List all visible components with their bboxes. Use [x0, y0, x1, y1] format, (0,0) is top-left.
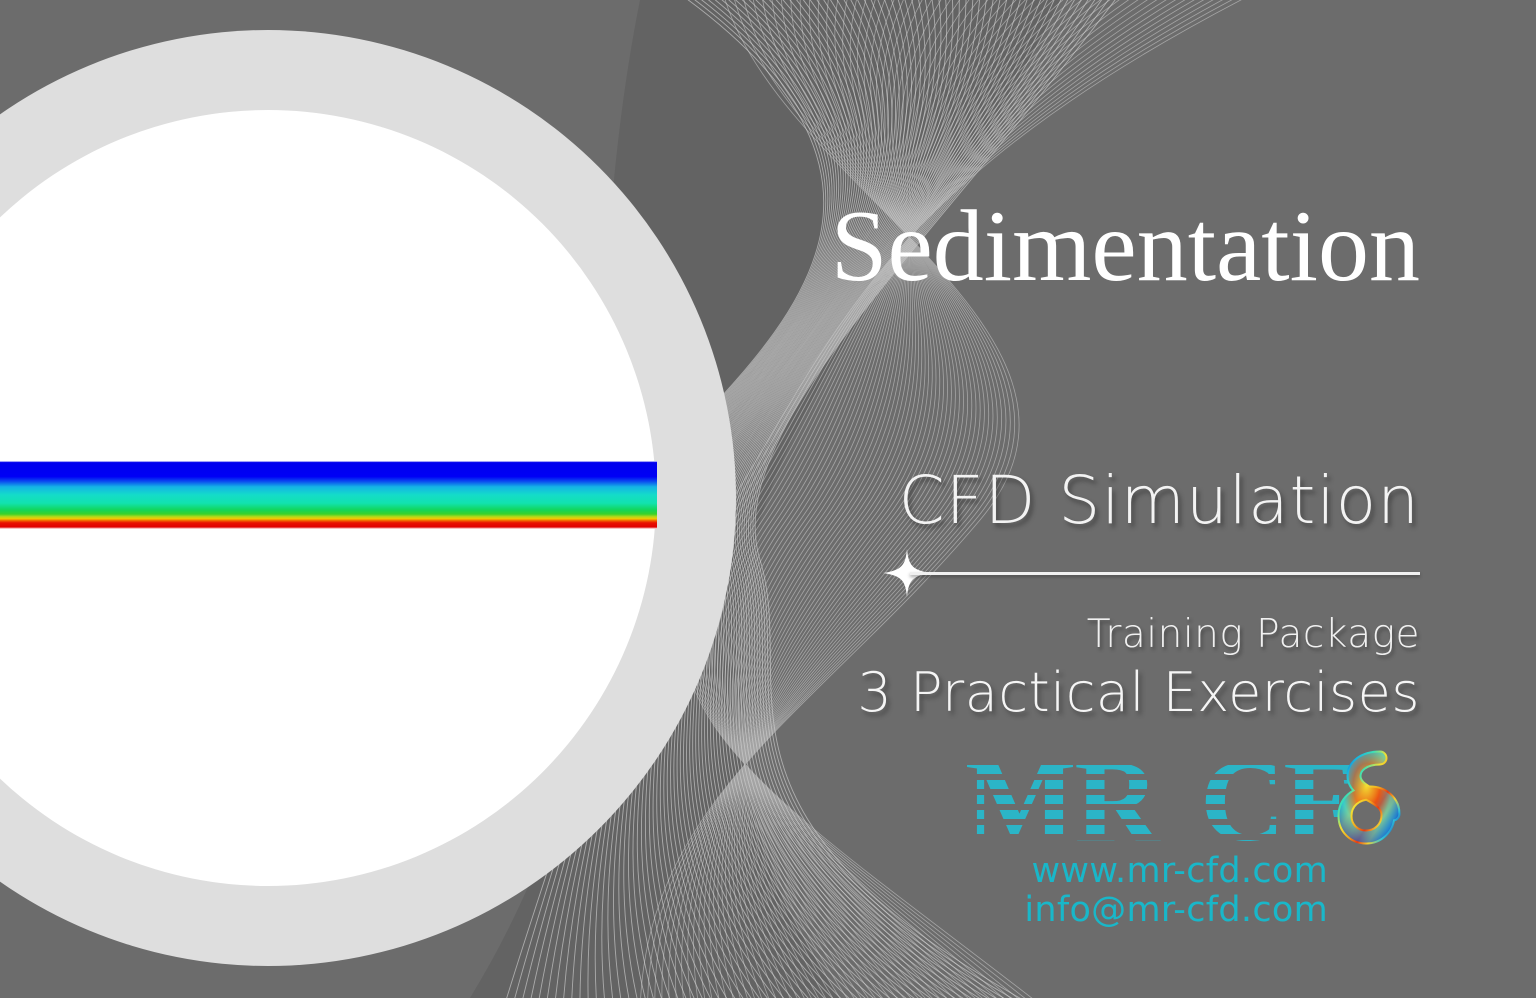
page-title: Sedimentation [760, 196, 1420, 298]
email-link[interactable]: info@mr-cfd.com [760, 891, 1328, 930]
website-link[interactable]: www.mr-cfd.com [760, 852, 1328, 891]
logo-wordmark: MR CF [965, 748, 1353, 856]
divider-line [910, 572, 1420, 575]
subtitle: CFD Simulation [760, 466, 1420, 535]
logo-contour-glyph [1345, 758, 1393, 837]
cfd-contour-band [0, 461, 657, 529]
svg-text:CF: CF [1200, 748, 1353, 856]
divider [882, 562, 1420, 584]
svg-text:MR: MR [965, 748, 1161, 856]
mr-cfd-logo[interactable]: MR CF [965, 748, 1415, 856]
package-headline: 3 Practical Exercises [760, 661, 1420, 724]
poster-canvas: Sedimentation CFD Simulation Training Pa… [0, 0, 1536, 998]
brand-contact: www.mr-cfd.com info@mr-cfd.com [760, 852, 1420, 930]
package-kicker: Training Package [760, 612, 1420, 657]
